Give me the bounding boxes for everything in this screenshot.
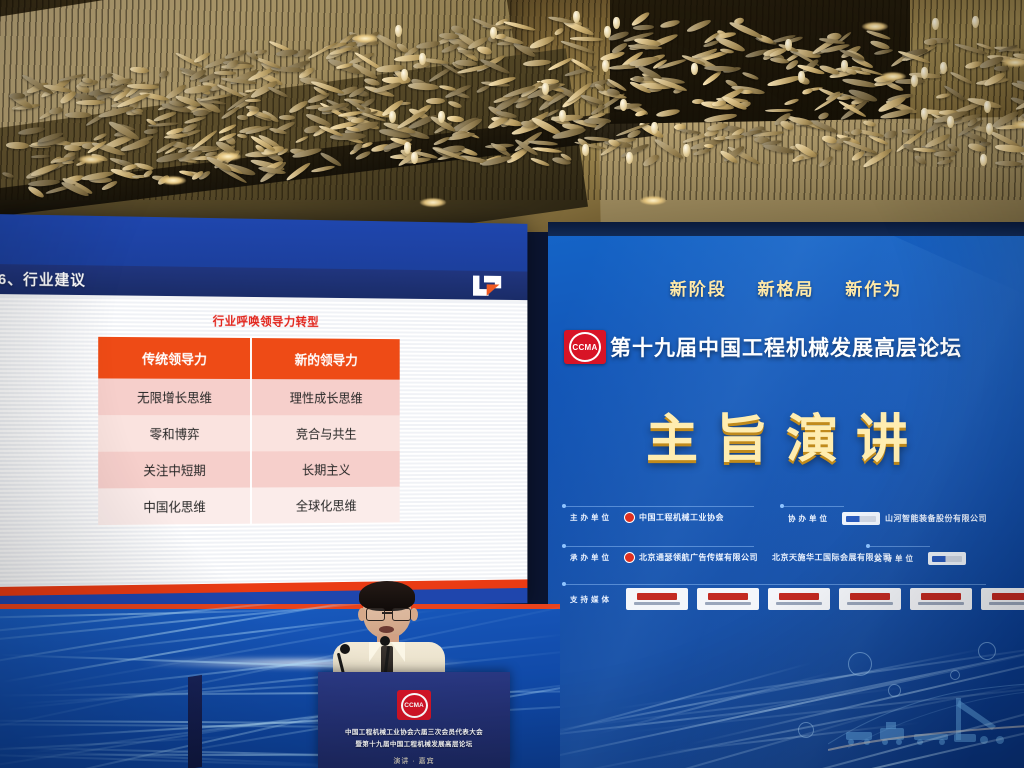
sponsor-row-host: 主办单位 中国工程机械工业协会 — [570, 512, 724, 523]
table-cell: 中国化思维 — [98, 488, 252, 526]
sponsor-org: 北京通瑟领航广告传媒有限公司 — [624, 552, 758, 563]
table-cell: 长期主义 — [252, 451, 400, 488]
media-logo — [626, 588, 688, 610]
speaker-ear-left — [358, 608, 366, 621]
led-backdrop: 新阶段 新格局 新作为 CCMA 第十九届中国工程机械发展高层论坛 主旨演讲 主… — [548, 222, 1024, 768]
sponsor-row-media: 支持媒体 — [570, 588, 1024, 610]
table-cell: 全球化思维 — [252, 487, 400, 524]
media-logo — [839, 588, 901, 610]
sponsor-org-name: 北京通瑟领航广告传媒有限公司 — [639, 552, 758, 563]
table-row: 无限增长思维 理性成长思维 — [98, 378, 400, 415]
sponsor-org-name: 山河智能装备股份有限公司 — [885, 513, 987, 524]
podium-front-panel: CCMA 中国工程机械工业协会六届三次会员代表大会 暨第十九届中国工程机械发展高… — [326, 678, 502, 768]
sponsor-label: 支持媒体 — [570, 594, 612, 605]
speaker-mouth — [379, 626, 394, 633]
table-row: 中国化思维 全球化思维 — [98, 487, 400, 525]
podium-text-line-2: 暨第十九届中国工程机械发展高层论坛 — [326, 738, 502, 748]
sponsor-label: 协办单位 — [788, 513, 830, 524]
sponsor-row-support: 支持单位 — [874, 552, 971, 565]
microphone-left-head-icon — [340, 644, 350, 654]
podium-text-line-1: 中国工程机械工业协会六届三次会员代表大会 — [326, 726, 502, 736]
table-cell: 理性成长思维 — [252, 379, 400, 415]
podium: CCMA 中国工程机械工业协会六届三次会员代表大会 暨第十九届中国工程机械发展高… — [318, 672, 510, 768]
agency-mark-icon — [624, 552, 635, 563]
conference-photo: 6、行业建议 行业呼唤领导力转型 传统领导力 新的领导力 无限增长思维 理性成长… — [0, 0, 1024, 768]
sponsor-org: 中国工程机械工业协会 — [624, 512, 724, 523]
projection-screen: 6、行业建议 行业呼唤领导力转型 传统领导力 新的领导力 无限增长思维 理性成长… — [0, 214, 527, 612]
glasses-right-lens-icon — [392, 608, 411, 621]
conference-title: 第十九届中国工程机械发展高层论坛 — [610, 332, 962, 362]
leadership-table: 传统领导力 新的领导力 无限增长思维 理性成长思维 零和博弈 竞合与共生 关注中… — [98, 337, 400, 525]
table-col-header-new: 新的领导力 — [252, 338, 400, 380]
table-row: 关注中短期 长期主义 — [98, 451, 400, 488]
glasses-bridge-icon — [382, 612, 392, 614]
presentation-slide: 6、行业建议 行业呼唤领导力转型 传统领导力 新的领导力 无限增长思维 理性成长… — [0, 214, 527, 612]
sponsor-label: 支持单位 — [874, 553, 916, 564]
speaker-collar-right — [391, 642, 405, 662]
table-cell: 零和博弈 — [98, 415, 252, 452]
slogan-part-2: 新格局 — [758, 280, 815, 299]
slogan-part-3: 新作为 — [845, 280, 902, 299]
led-slogan: 新阶段 新格局 新作为 — [548, 275, 1024, 300]
sponsor-org: 山河智能装备股份有限公司 — [842, 512, 987, 525]
table-cell: 无限增长思维 — [98, 378, 252, 415]
media-logo-strip — [626, 588, 1024, 610]
ceiling — [0, 0, 1024, 232]
media-logo — [768, 588, 830, 610]
slide-title: 6、行业建议 — [0, 268, 86, 290]
table-header-row: 传统领导力 新的领导力 — [98, 337, 400, 380]
table-col-header-traditional: 传统领导力 — [98, 337, 252, 379]
microphone-right-head-icon — [380, 636, 390, 646]
table-row: 零和博弈 竞合与共生 — [98, 415, 400, 452]
slogan-part-1: 新阶段 — [670, 280, 727, 299]
podium-side-panel — [188, 675, 202, 768]
sunward-logo-icon — [842, 512, 880, 525]
speaker-ear-right — [410, 608, 418, 621]
podium-ccma-logo-icon: CCMA — [397, 690, 431, 720]
podium-nameplate: 演讲 · 嘉宾 — [326, 756, 502, 766]
glasses-left-lens-icon — [366, 608, 385, 621]
sponsor-row-organizer: 承办单位 北京通瑟领航广告传媒有限公司 北京天施华工国际会展有限公司 — [570, 552, 891, 563]
liugong-logo-icon — [471, 274, 502, 298]
sponsor-label: 主办单位 — [570, 512, 612, 523]
sponsor-org-name: 中国工程机械工业协会 — [639, 512, 724, 523]
sponsor-org — [928, 552, 971, 565]
media-logo — [910, 588, 972, 610]
ccma-badge-text: CCMA — [569, 332, 601, 362]
led-top-rail — [548, 222, 1024, 236]
main-heading: 主旨演讲 — [548, 397, 1024, 472]
support-logo-icon — [928, 552, 966, 565]
ccma-mark-icon — [624, 512, 635, 523]
speaker-hair — [359, 581, 415, 611]
sponsor-row-cohost: 协办单位 山河智能装备股份有限公司 — [788, 512, 987, 525]
table-cell: 竞合与共生 — [252, 415, 400, 451]
sponsor-label: 承办单位 — [570, 552, 612, 563]
media-logo — [697, 588, 759, 610]
table-cell: 关注中短期 — [98, 451, 252, 488]
podium-ccma-badge-text: CCMA — [401, 693, 428, 718]
ccma-logo-icon: CCMA — [564, 330, 606, 364]
media-logo — [981, 588, 1024, 610]
